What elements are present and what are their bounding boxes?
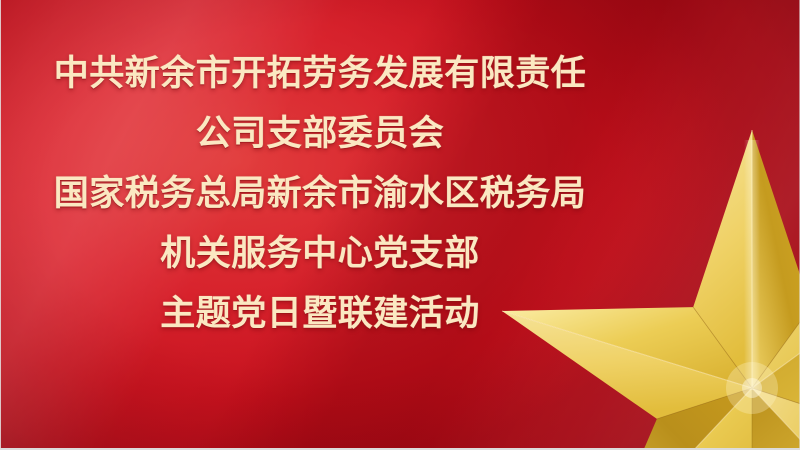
title-line-2: 公司支部委员会 bbox=[0, 104, 640, 164]
canvas-edge-left bbox=[0, 0, 1, 450]
title-line-4: 机关服务中心党支部 bbox=[0, 224, 640, 284]
title-line-1: 中共新余市开拓劳务发展有限责任 bbox=[0, 44, 640, 104]
title-block: 中共新余市开拓劳务发展有限责任 公司支部委员会 国家税务总局新余市渝水区税务局 … bbox=[0, 44, 640, 344]
title-line-3: 国家税务总局新余市渝水区税务局 bbox=[0, 164, 640, 224]
poster-canvas: 中共新余市开拓劳务发展有限责任 公司支部委员会 国家税务总局新余市渝水区税务局 … bbox=[0, 0, 800, 450]
title-line-5: 主题党日暨联建活动 bbox=[0, 284, 640, 344]
